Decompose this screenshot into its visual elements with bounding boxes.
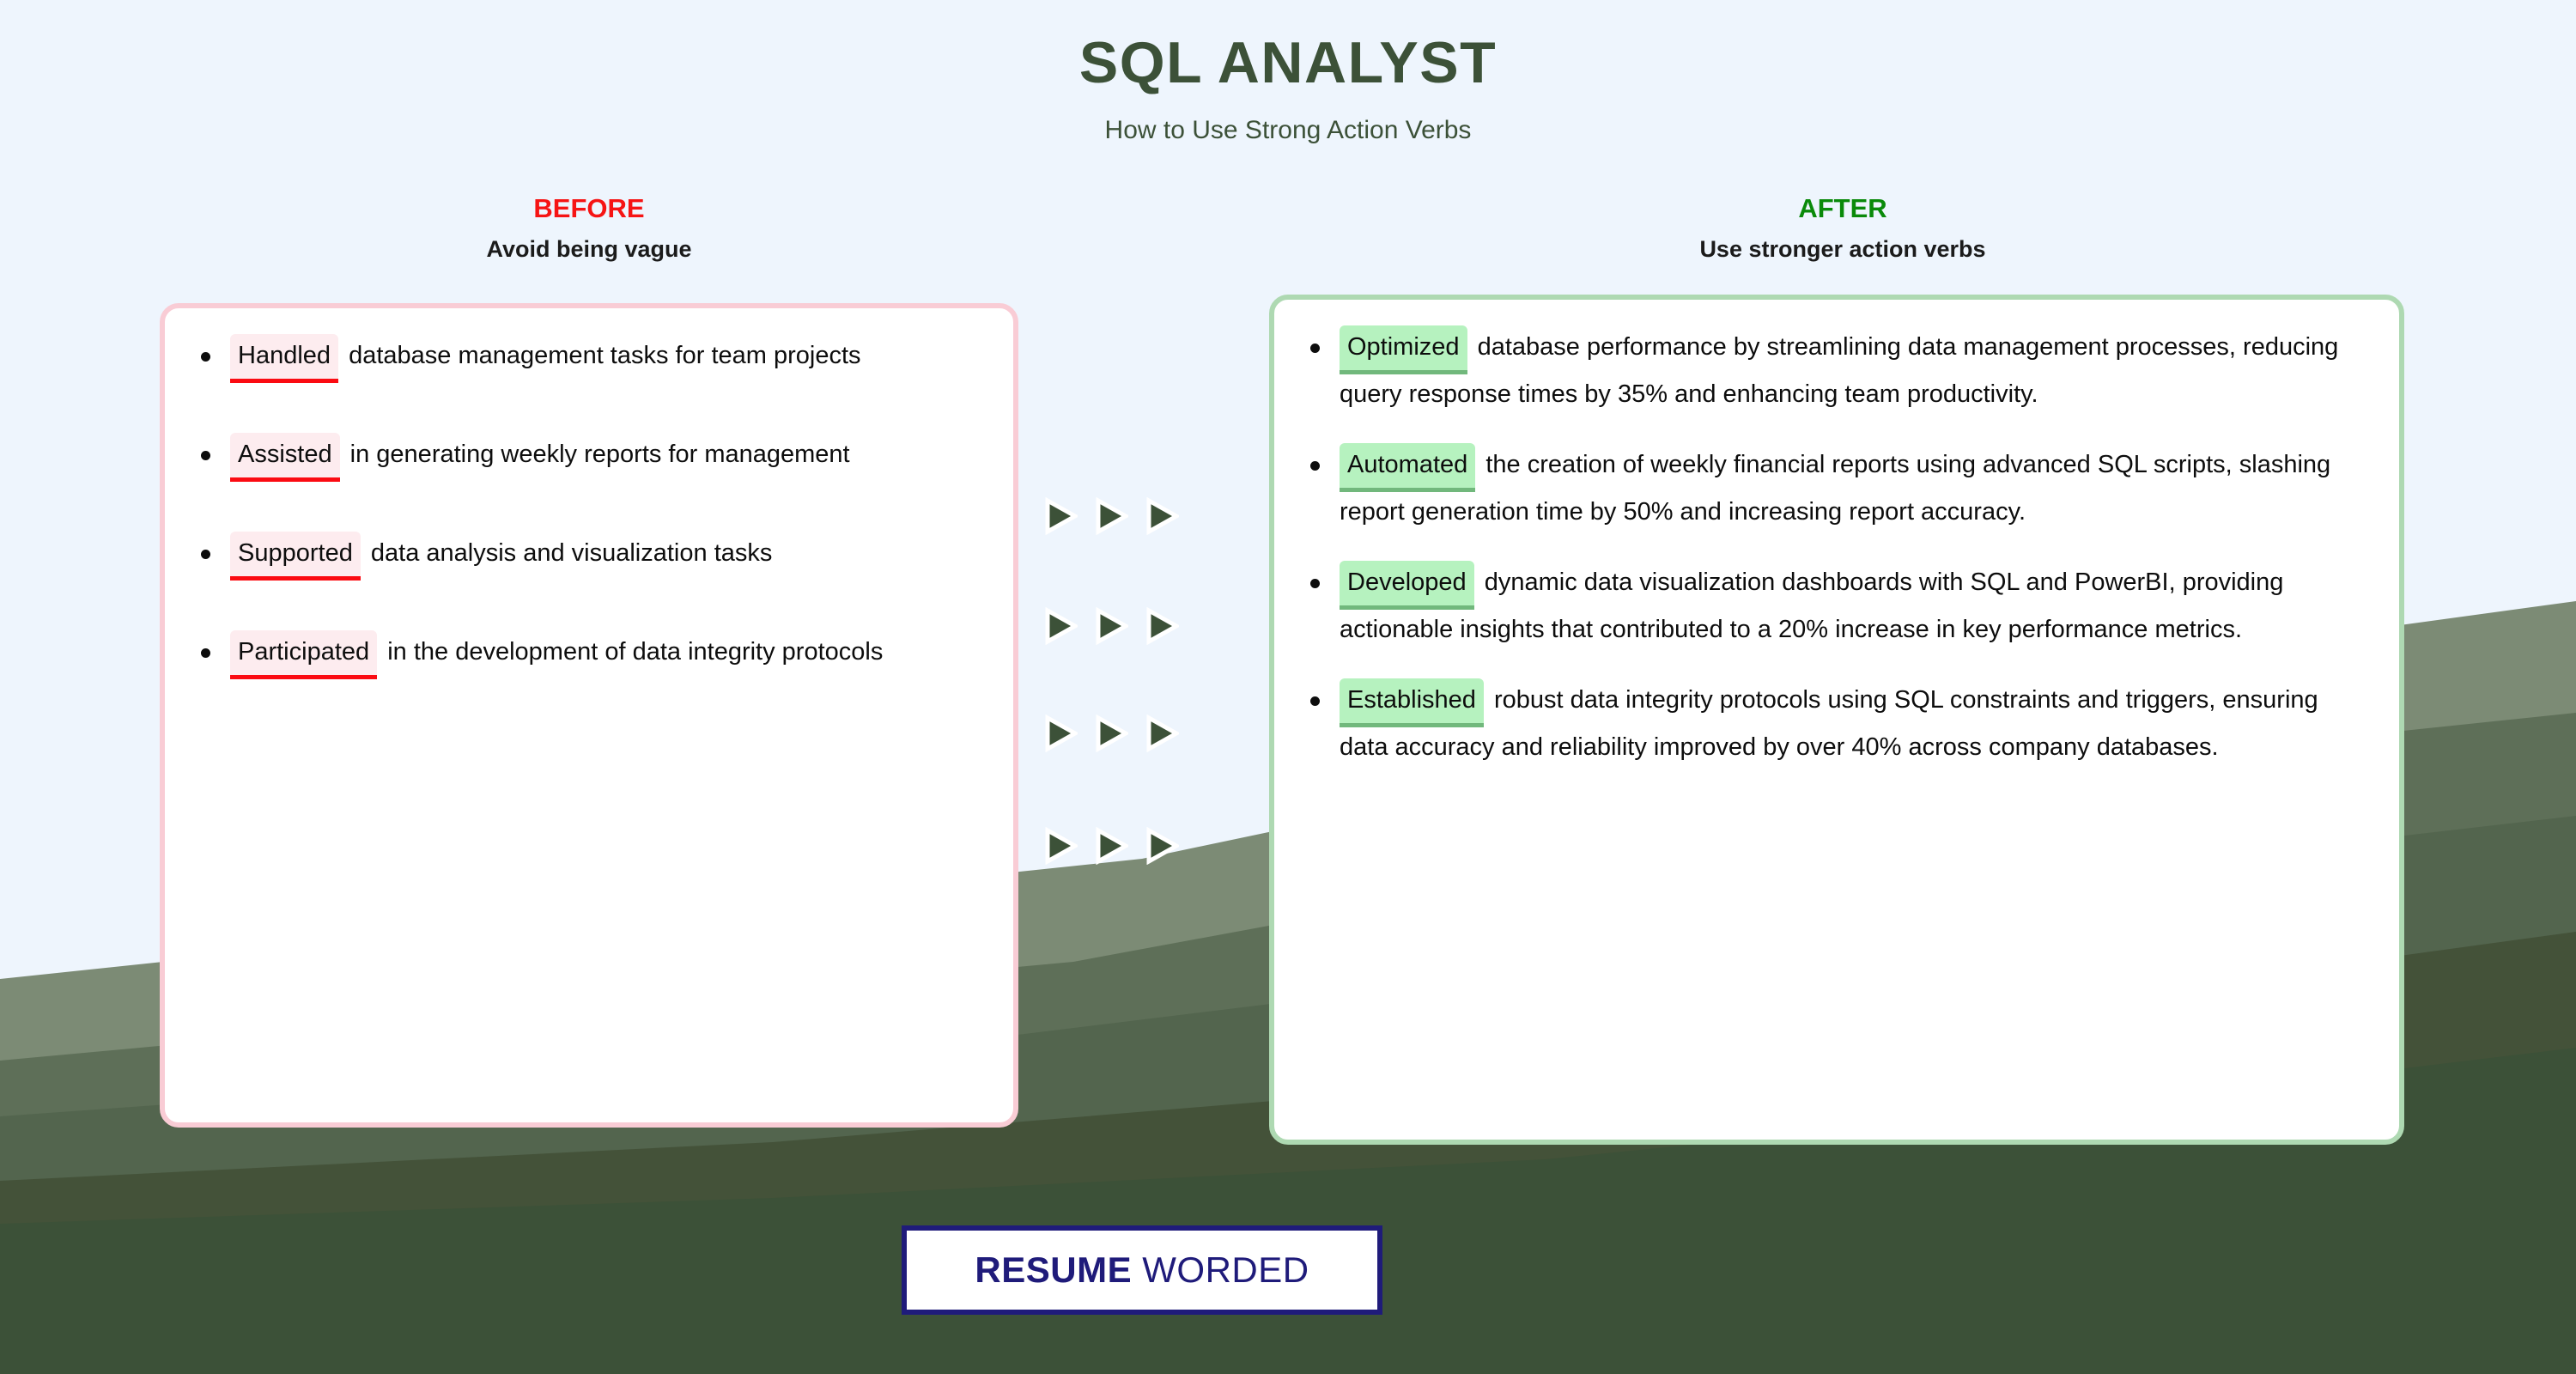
triangle-right-icon — [1043, 714, 1078, 752]
action-verb-highlight: Supported — [230, 532, 361, 581]
action-verb-highlight: Established — [1340, 678, 1484, 727]
logo-light-word: WORDED — [1142, 1249, 1309, 1290]
resume-worded-logo[interactable]: RESUME WORDED — [902, 1225, 1382, 1315]
page-title: SQL ANALYST — [0, 29, 2576, 96]
triangle-right-icon — [1145, 827, 1179, 865]
triangle-right-icon — [1094, 827, 1128, 865]
arrow-row-3 — [1043, 714, 1179, 752]
before-label: BEFORE — [160, 193, 1018, 224]
after-bullet-list: Optimized database performance by stream… — [1303, 325, 2366, 768]
triangle-right-icon — [1043, 497, 1078, 535]
triangle-right-icon — [1094, 497, 1128, 535]
arrow-row-2 — [1043, 607, 1179, 645]
action-verb-highlight: Optimized — [1340, 325, 1467, 374]
bullet-text: the creation of weekly financial reports… — [1340, 451, 2330, 526]
triangle-right-icon — [1043, 607, 1078, 645]
triangle-right-icon — [1145, 497, 1179, 535]
action-verb-highlight: Automated — [1340, 443, 1475, 492]
list-item: Developed dynamic data visualization das… — [1303, 561, 2366, 650]
triangle-right-icon — [1094, 714, 1128, 752]
list-item: Optimized database performance by stream… — [1303, 325, 2366, 415]
bullet-text: dynamic data visualization dashboards wi… — [1340, 568, 2283, 643]
list-item: Assisted in generating weekly reports fo… — [194, 433, 981, 482]
triangle-right-icon — [1145, 714, 1179, 752]
list-item: Established robust data integrity protoc… — [1303, 678, 2366, 768]
triangle-right-icon — [1145, 607, 1179, 645]
after-sublabel: Use stronger action verbs — [1413, 236, 2272, 263]
header: SQL ANALYST How to Use Strong Action Ver… — [0, 0, 2576, 146]
action-verb-highlight: Assisted — [230, 433, 340, 482]
triangle-right-icon — [1094, 607, 1128, 645]
bullet-text: data analysis and visualization tasks — [371, 539, 772, 567]
before-sublabel: Avoid being vague — [160, 236, 1018, 263]
list-item: Handled database management tasks for te… — [194, 334, 981, 383]
action-verb-highlight: Developed — [1340, 561, 1474, 610]
bullet-text: in generating weekly reports for managem… — [350, 441, 850, 468]
after-column-heading: AFTER Use stronger action verbs — [1413, 193, 2272, 263]
triangle-right-icon — [1043, 827, 1078, 865]
before-bullet-list: Handled database management tasks for te… — [194, 334, 981, 679]
before-column-heading: BEFORE Avoid being vague — [160, 193, 1018, 263]
bullet-text: robust data integrity protocols using SQ… — [1340, 686, 2318, 761]
logo-strong-word: RESUME — [975, 1249, 1132, 1290]
bullet-text: database management tasks for team proje… — [349, 342, 860, 369]
before-card: Handled database management tasks for te… — [160, 303, 1018, 1128]
after-card: Optimized database performance by stream… — [1269, 295, 2404, 1145]
arrow-row-4 — [1043, 827, 1179, 865]
action-verb-highlight: Participated — [230, 630, 377, 679]
bullet-text: in the development of data integrity pro… — [387, 638, 883, 666]
comparison-columns: BEFORE Avoid being vague AFTER Use stron… — [0, 193, 2576, 262]
action-verb-highlight: Handled — [230, 334, 338, 383]
bullet-text: database performance by streamlining dat… — [1340, 333, 2338, 408]
list-item: Supported data analysis and visualizatio… — [194, 532, 981, 581]
column-headings: BEFORE Avoid being vague AFTER Use stron… — [0, 193, 2576, 262]
poster-root: SQL ANALYST How to Use Strong Action Ver… — [0, 0, 2576, 1374]
list-item: Automated the creation of weekly financi… — [1303, 443, 2366, 532]
logo-text: RESUME WORDED — [975, 1249, 1309, 1291]
page-subtitle: How to Use Strong Action Verbs — [0, 115, 2576, 146]
list-item: Participated in the development of data … — [194, 630, 981, 679]
arrow-row-1 — [1043, 497, 1179, 535]
after-label: AFTER — [1413, 193, 2272, 224]
